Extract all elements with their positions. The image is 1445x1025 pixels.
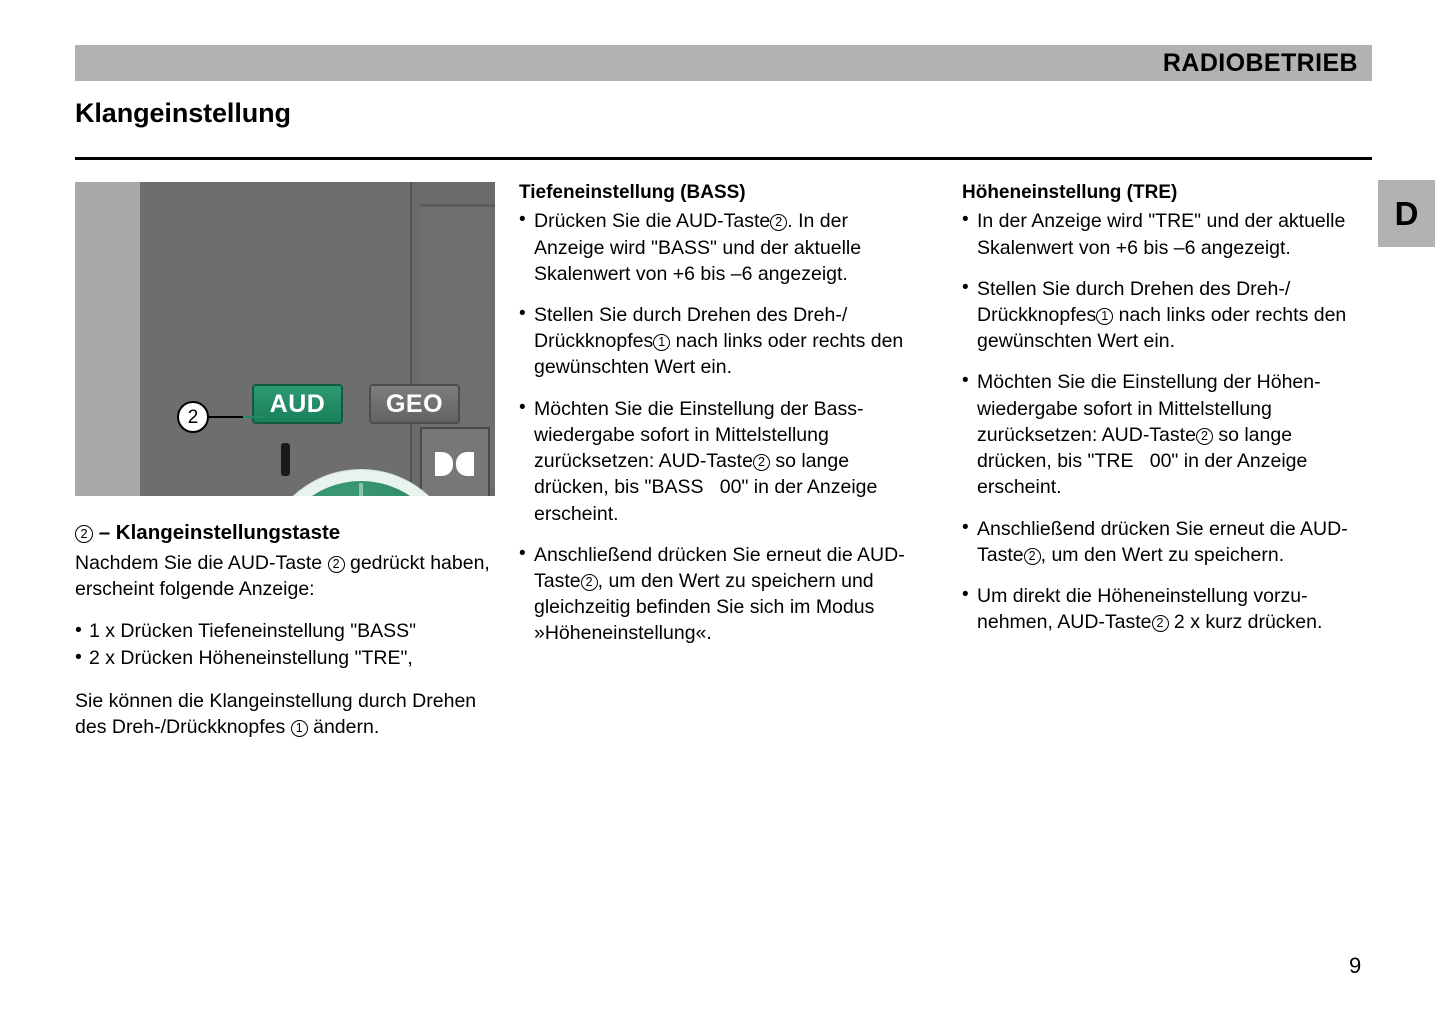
circled-number-2: 2	[1024, 548, 1041, 565]
list-item: Möchten Sie die Einstellung der Höhen-wi…	[962, 369, 1372, 500]
left-column-closing: Sie können die Klangeinstellung durch Dr…	[75, 688, 495, 740]
circled-number-2: 2	[1152, 615, 1169, 632]
circled-number-2: 2	[753, 454, 770, 471]
bullet-text-post: 2 x kurz drücken.	[1169, 611, 1323, 633]
circled-number-2: 2	[770, 214, 787, 231]
dolby-icon-right-half	[456, 452, 474, 476]
dolby-icon-left-half	[435, 452, 453, 476]
list-item: Anschließend drücken Sie erneut die AUD-…	[519, 542, 919, 647]
right-text-column: Höheneinstellung (TRE) In der Anzeige wi…	[962, 181, 1372, 650]
list-item: Stellen Sie durch Drehen des Dreh-/ Drüc…	[519, 302, 919, 381]
dolby-icon	[435, 452, 477, 476]
right-column-bullet-list: In der Anzeige wird "TRE" und der aktuel…	[962, 208, 1372, 635]
middle-column-heading: Tiefeneinstellung (BASS)	[519, 181, 919, 205]
bullet-text-post: , um den Wert zu speichern.	[1041, 544, 1285, 566]
callout-marker-2: 2	[177, 401, 209, 433]
right-column-heading: Höheneinstellung (TRE)	[962, 181, 1372, 205]
circled-number-2: 2	[1196, 428, 1213, 445]
circled-number-2: 2	[328, 556, 345, 573]
car-radio-faceplate-illustration: TP F AUD GEO IO 2 1	[75, 182, 495, 496]
left-text-column: 2 – Klangeinstellungstaste Nachdem Sie d…	[75, 520, 495, 740]
middle-text-column: Tiefeneinstellung (BASS) Drücken Sie die…	[519, 181, 919, 662]
list-item: In der Anzeige wird "TRE" und der aktuel…	[962, 208, 1372, 260]
circled-number-1: 1	[291, 720, 308, 737]
language-tab-d: D	[1378, 180, 1435, 247]
left-column-heading: 2 – Klangeinstellungstaste	[75, 520, 495, 547]
list-item: Stellen Sie durch Drehen des Dreh-/ Drüc…	[962, 276, 1372, 355]
left-column-heading-text: – Klangeinstellungstaste	[99, 521, 341, 544]
list-item: Drücken Sie die AUD-Taste2. In der Anzei…	[519, 208, 919, 287]
page-header-bar: RADIOBETRIEB	[75, 45, 1372, 81]
list-item: 2 x Drücken Höheneinstellung "TRE",	[75, 645, 495, 672]
geo-button-label: GEO	[386, 392, 443, 417]
callout-2-leader-line-tip	[243, 416, 265, 418]
knob-tick-mark	[359, 483, 363, 496]
bullet-text-pre: Drücken Sie die AUD-Taste	[534, 210, 770, 232]
circled-number-2: 2	[581, 574, 598, 591]
geo-button: GEO	[369, 384, 460, 424]
callout-marker-2-label: 2	[188, 408, 199, 427]
circled-number-1: 1	[653, 334, 670, 351]
list-item: Möchten Sie die Einstellung der Bass-wie…	[519, 396, 919, 527]
left-closing-c: ändern.	[313, 716, 379, 738]
left-closing-a: Sie können die Klangeinstellung durch	[75, 690, 407, 712]
list-item: 1 x Drücken Tiefeneinstellung "BASS"	[75, 618, 495, 645]
knob-position-indicator	[281, 443, 290, 476]
aud-button: AUD	[252, 384, 343, 424]
header-title: RADIOBETRIEB	[1163, 51, 1372, 76]
left-intro-line1: Nachdem Sie die AUD-Taste	[75, 552, 322, 574]
list-item: Anschließend drücken Sie erneut die AUD-…	[962, 516, 1372, 568]
page-number: 9	[1349, 955, 1361, 977]
list-item: Um direkt die Höheneinstellung vorzu-neh…	[962, 583, 1372, 635]
page-title: Klangeinstellung	[75, 98, 291, 129]
left-column-intro: Nachdem Sie die AUD-Taste 2 gedrückt hab…	[75, 550, 495, 602]
circled-number-1: 1	[1096, 308, 1113, 325]
left-column-bullet-list: 1 x Drücken Tiefeneinstellung "BASS" 2 x…	[75, 618, 495, 672]
language-tab-letter: D	[1395, 197, 1419, 230]
middle-column-bullet-list: Drücken Sie die AUD-Taste2. In der Anzei…	[519, 208, 919, 646]
title-divider	[75, 157, 1372, 160]
circled-number-2: 2	[75, 525, 93, 543]
aud-button-label: AUD	[270, 392, 326, 417]
left-intro-line1-rest: gedrückt	[350, 552, 425, 574]
bullet-text-pre: In der Anzeige wird "TRE" und der aktuel…	[977, 210, 1345, 258]
